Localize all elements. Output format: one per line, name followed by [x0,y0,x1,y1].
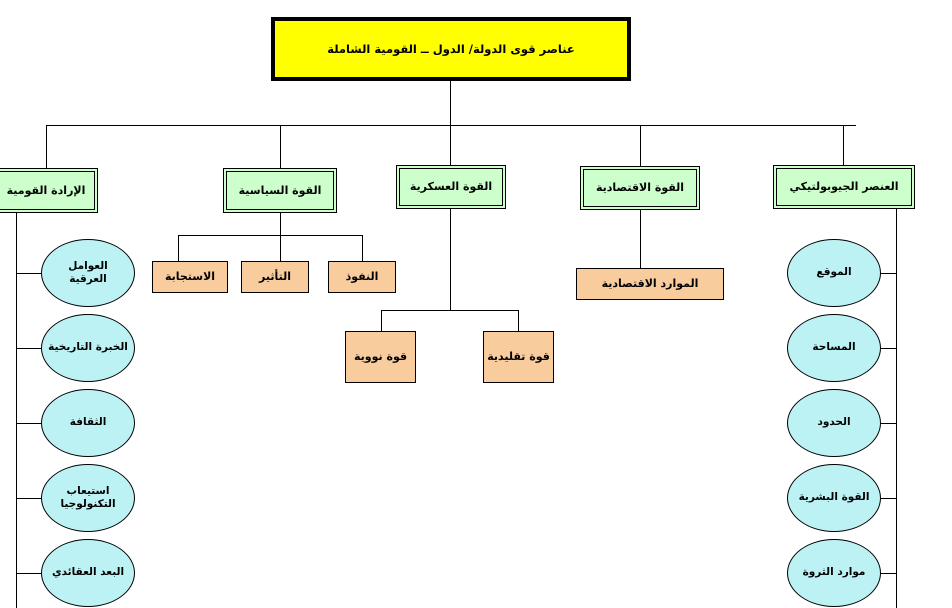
sub-node-leverage: النفوذ [328,261,396,293]
sub-node-economic-resources: الموارد الاقتصادية [576,268,724,300]
connector-stub-culture [16,423,42,424]
leaf-node-historical-experience: الخبرة التاريخية [41,314,135,382]
leaf-node-area: المساحة [787,314,881,382]
branch-label-national-will: الإرادة القومية [7,184,86,197]
connector-drop-conventional-power [518,310,519,331]
leaf-label-wealth-resources: موارد الثروة [803,566,866,579]
leaf-node-location: الموقع [787,239,881,307]
connector-root-stem [450,80,451,125]
branch-node-political-power: القوة السياسية [223,168,337,213]
branch-label-military-power: القوة العسكرية [410,180,492,193]
connector-drop-political-power [280,125,281,168]
connector-stem-economic-power [640,210,641,268]
leaf-label-ideological-dimension: البعد العقائدي [52,566,124,579]
connector-stub-technology-absorption [16,498,42,499]
leaf-node-wealth-resources: موارد الثروة [787,539,881,607]
connector-spine-geopolitical [896,209,897,608]
leaf-label-location: الموقع [816,266,851,279]
diagram-canvas: عناصر قوى الدولة/ الدول ــ القومية الشام… [0,0,952,608]
connector-stem-political-power [280,213,281,235]
connector-drop-responsiveness [178,235,179,261]
leaf-node-ethnic-factors: العوامل العرقية [41,239,135,307]
leaf-node-human-power: القوة البشرية [787,464,881,532]
leaf-node-technology-absorption: استيعاب التكنولوجيا [41,464,135,532]
leaf-label-human-power: القوة البشرية [799,491,870,504]
sub-node-conventional-power: قوة تقليدية [483,331,554,383]
branch-node-geopolitical-element: العنصر الجيوبولتيكي [773,165,915,209]
leaf-node-borders: الحدود [787,389,881,457]
connector-stub-ethnic-factors [16,273,42,274]
sub-label-conventional-power: قوة تقليدية [487,350,550,363]
connector-stub-historical-experience [16,348,42,349]
sub-node-responsiveness: الاستجابة [152,261,228,293]
connector-drop-geopolitical [843,125,844,168]
leaf-node-ideological-dimension: البعد العقائدي [41,539,135,607]
leaf-node-culture: الثقافة [41,389,135,457]
connector-drop-national-will [46,125,47,168]
root-node-label: عناصر قوى الدولة/ الدول ــ القومية الشام… [327,42,574,56]
connector-drop-leverage [362,235,363,261]
connector-drop-influence [280,235,281,261]
connector-main-bus [46,125,856,126]
branch-label-political-power: القوة السياسية [239,184,322,197]
branch-label-economic-power: القوة الاقتصادية [596,181,684,194]
leaf-label-area: المساحة [812,341,855,354]
connector-drop-economic-power [640,125,641,168]
sub-label-economic-resources: الموارد الاقتصادية [602,277,699,290]
sub-label-responsiveness: الاستجابة [165,270,215,283]
connector-stem-military-power [450,209,451,310]
connector-bus-political-power [178,235,363,236]
leaf-label-ethnic-factors: العوامل العرقية [48,260,128,286]
sub-label-leverage: النفوذ [346,270,379,283]
connector-stub-ideological-dimension [16,573,42,574]
sub-label-influence: التأثير [259,270,291,283]
leaf-label-culture: الثقافة [70,416,107,429]
leaf-label-borders: الحدود [817,416,850,429]
connector-bus-military-power [381,310,518,311]
branch-node-economic-power: القوة الاقتصادية [580,166,700,210]
root-node-state-power-elements: عناصر قوى الدولة/ الدول ــ القومية الشام… [272,18,630,80]
sub-node-nuclear-power: قوة نووية [345,331,416,383]
connector-drop-nuclear-power [381,310,382,331]
connector-drop-military-power [450,125,451,168]
leaf-label-technology-absorption: استيعاب التكنولوجيا [48,485,128,511]
sub-label-nuclear-power: قوة نووية [354,350,407,363]
branch-node-national-will: الإرادة القومية [0,168,98,213]
branch-node-military-power: القوة العسكرية [396,165,506,209]
leaf-label-historical-experience: الخبرة التاريخية [48,341,128,354]
sub-node-influence: التأثير [241,261,309,293]
branch-label-geopolitical-element: العنصر الجيوبولتيكي [790,180,899,193]
